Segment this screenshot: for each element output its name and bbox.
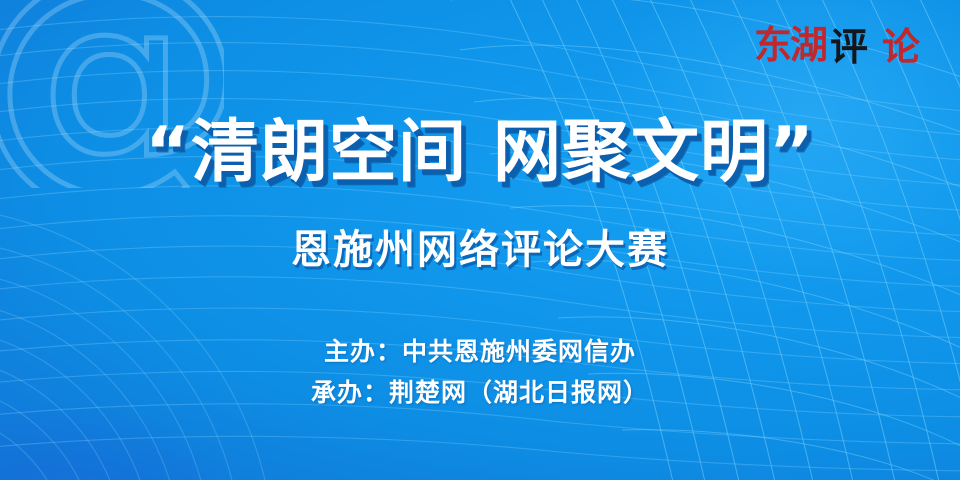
title-part-1: 清朗空间 [191, 113, 467, 192]
banner-content: “清朗空间网聚文明” 恩施州网络评论大赛 主办：中共恩施州委网信办 承办：荆楚网… [0, 0, 960, 480]
banner-title: “清朗空间网聚文明” [145, 96, 814, 195]
organizer-block: 主办：中共恩施州委网信办 承办：荆楚网（湖北日报网） [311, 331, 649, 414]
organizer-line-executor: 承办：荆楚网（湖北日报网） [311, 372, 649, 413]
event-banner: @ 东 湖 评 论 “清朗空间网聚文明” 恩施州网络评论大赛 主办：中共恩施州委… [0, 0, 960, 480]
title-close-quote: ” [769, 113, 815, 192]
organizer-line-host: 主办：中共恩施州委网信办 [311, 331, 649, 372]
title-part-2: 网聚文明 [493, 113, 769, 192]
banner-subtitle: 恩施州网络评论大赛 [291, 217, 669, 275]
title-open-quote: “ [145, 113, 191, 192]
